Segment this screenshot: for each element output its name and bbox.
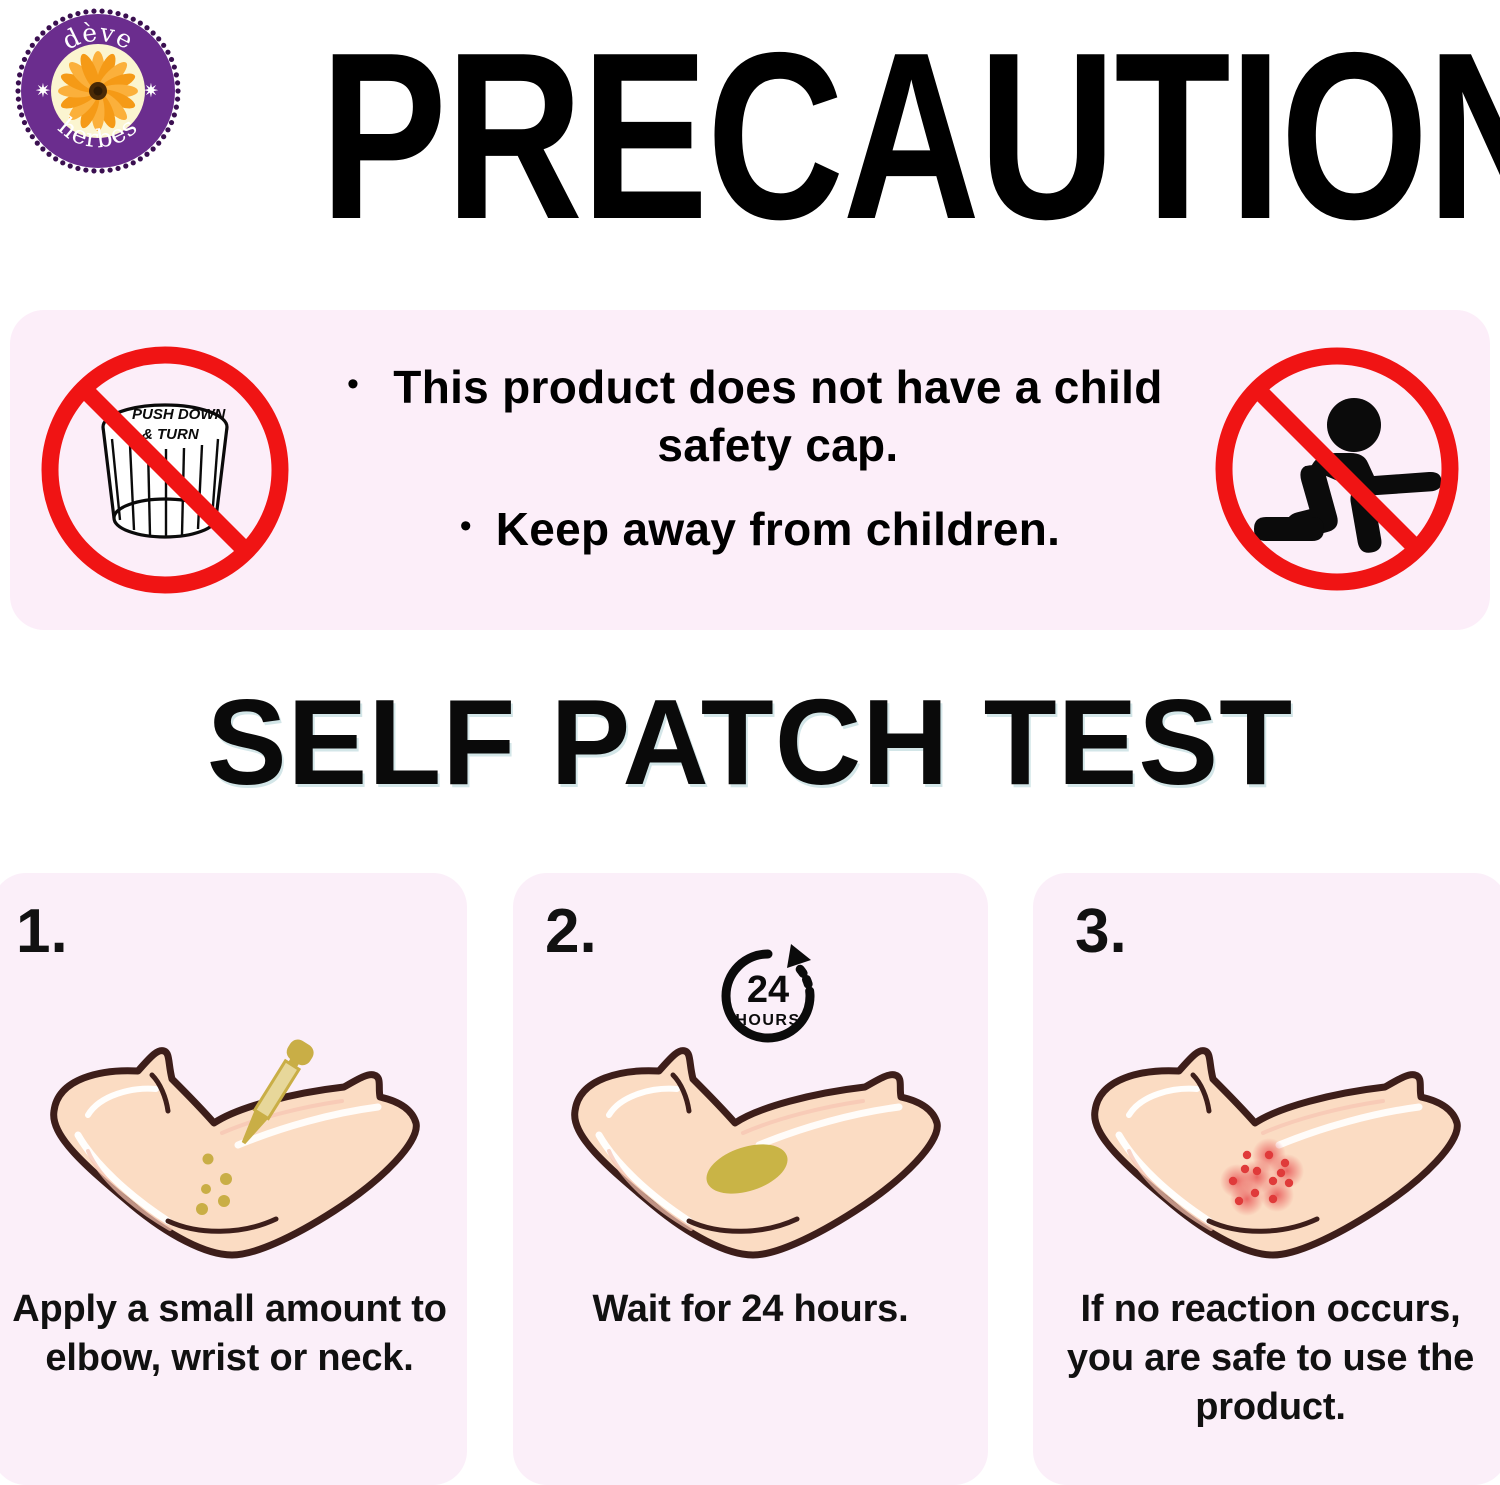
- logo-star-right-icon: ✷: [143, 82, 159, 101]
- step-caption: Wait for 24 hours.: [531, 1285, 970, 1334]
- step-caption: Apply a small amount to elbow, wrist or …: [10, 1285, 449, 1383]
- precaution-item: • This product does not have a child saf…: [310, 358, 1210, 474]
- step-number: 3.: [1075, 901, 1127, 963]
- precaution-item: • Keep away from children.: [310, 500, 1210, 558]
- step-caption: If no reaction occurs, you are safe to u…: [1051, 1285, 1490, 1432]
- logo-bottom-word: herbes: [53, 111, 144, 153]
- bullet-icon: •: [460, 500, 472, 552]
- clock-unit: HOURS: [735, 1012, 800, 1029]
- no-crawling-baby-icon: [1206, 338, 1468, 600]
- section-heading: SELF PATCH TEST: [15, 678, 1485, 806]
- elbow-with-dropper-icon: [0, 983, 467, 1273]
- page-header: dève herbes ✷ ✷ PRECAUTION: [0, 0, 1500, 295]
- step-number: 1.: [16, 901, 68, 963]
- logo-star-left-icon: ✷: [35, 82, 51, 101]
- step-card-3: 3. If no reaction occurs, you are safe t…: [1033, 873, 1500, 1485]
- cap-label-line2: & TURN: [142, 426, 200, 443]
- step-card-1: 1. Apply a smal: [0, 873, 467, 1485]
- precaution-banner: PUSH DOWN & TURN • This product does not…: [10, 310, 1490, 630]
- clock-value: 24: [747, 969, 789, 1011]
- precaution-item-text: Keep away from children.: [496, 500, 1060, 558]
- precaution-list: • This product does not have a child saf…: [310, 358, 1210, 572]
- step-number: 2.: [545, 901, 597, 963]
- brand-logo: dève herbes ✷ ✷: [13, 6, 183, 176]
- cap-label-line1: PUSH DOWN: [132, 406, 227, 423]
- logo-top-word: dève: [58, 18, 139, 56]
- clock-24-hours-icon: 24 HOURS: [703, 938, 833, 1053]
- bullet-icon: •: [347, 358, 359, 410]
- elbow-with-rash-icon: [1033, 983, 1500, 1273]
- no-child-safety-cap-icon: PUSH DOWN & TURN: [30, 335, 300, 605]
- precaution-item-text: This product does not have a child safet…: [383, 358, 1173, 474]
- page-title: PRECAUTION: [320, 22, 1032, 252]
